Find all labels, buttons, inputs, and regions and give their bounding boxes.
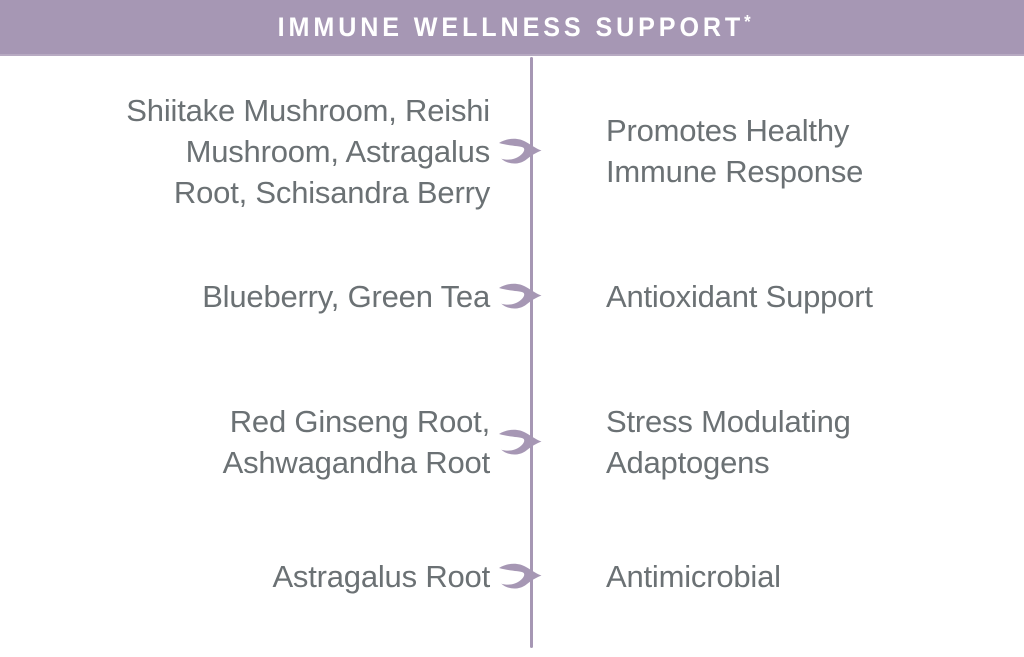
- benefit-cell: Stress Modulating Adaptogens: [606, 401, 1024, 483]
- ingredients-line: Blueberry, Green Tea: [0, 276, 490, 317]
- ingredients-cell: Red Ginseng Root, Ashwagandha Root: [0, 401, 490, 483]
- page-title: IMMUNE WELLNESS SUPPORT*: [274, 13, 751, 41]
- ingredients-line: Root, Schisandra Berry: [0, 172, 490, 213]
- benefit-line: Stress Modulating: [606, 401, 1024, 442]
- benefit-line: Antioxidant Support: [606, 276, 1024, 317]
- leaf-icon-cell: [490, 427, 606, 457]
- ingredients-line: Astragalus Root: [0, 556, 490, 597]
- leaf-icon: [498, 136, 542, 166]
- ingredients-cell: Blueberry, Green Tea: [0, 276, 490, 317]
- ingredients-cell: Astragalus Root: [0, 556, 490, 597]
- benefit-line: Promotes Healthy: [606, 110, 1024, 151]
- benefits-table: Shiitake Mushroom, Reishi Mushroom, Astr…: [0, 56, 1024, 657]
- benefit-cell: Antioxidant Support: [606, 276, 1024, 317]
- table-row: Astragalus Root Antimicrobial: [0, 526, 1024, 626]
- ingredients-line: Red Ginseng Root,: [0, 401, 490, 442]
- benefit-line: Antimicrobial: [606, 556, 1024, 597]
- table-row: Red Ginseng Root, Ashwagandha Root Stres…: [0, 369, 1024, 514]
- table-row: Shiitake Mushroom, Reishi Mushroom, Astr…: [0, 76, 1024, 226]
- header-banner: IMMUNE WELLNESS SUPPORT*: [0, 0, 1024, 56]
- leaf-icon-cell: [490, 561, 606, 591]
- footnote-asterisk: *: [744, 12, 751, 32]
- ingredients-line: Ashwagandha Root: [0, 442, 490, 483]
- ingredients-line: Mushroom, Astragalus: [0, 131, 490, 172]
- benefit-line: Immune Response: [606, 151, 1024, 192]
- benefit-cell: Antimicrobial: [606, 556, 1024, 597]
- leaf-icon-cell: [490, 136, 606, 166]
- leaf-icon: [498, 561, 542, 591]
- leaf-icon: [498, 427, 542, 457]
- benefit-cell: Promotes Healthy Immune Response: [606, 110, 1024, 192]
- leaf-icon: [498, 281, 542, 311]
- ingredients-line: Shiitake Mushroom, Reishi: [0, 90, 490, 131]
- benefit-line: Adaptogens: [606, 442, 1024, 483]
- leaf-icon-cell: [490, 281, 606, 311]
- ingredients-cell: Shiitake Mushroom, Reishi Mushroom, Astr…: [0, 90, 490, 213]
- page-title-text: IMMUNE WELLNESS SUPPORT: [277, 12, 744, 42]
- table-row: Blueberry, Green Tea Antioxidant Support: [0, 246, 1024, 346]
